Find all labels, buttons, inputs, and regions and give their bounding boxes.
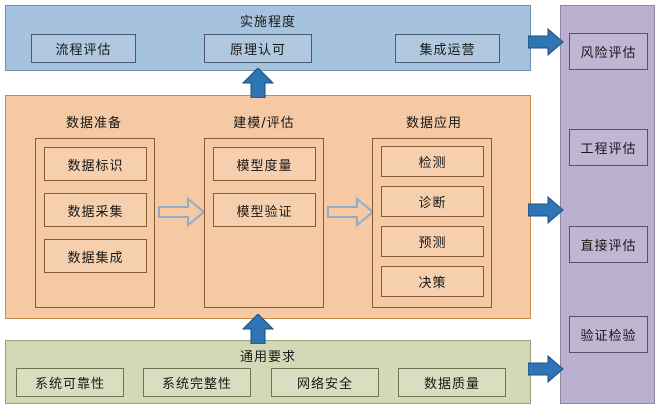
box-principle-approval[interactable]: 原理认可 <box>204 34 312 63</box>
box-data-identification[interactable]: 数据标识 <box>44 147 147 181</box>
group-title-modeling-evaluation: 建模/评估 <box>194 112 334 131</box>
panel-implementation-title: 实施程度 <box>6 11 530 30</box>
box-direct-assessment[interactable]: 直接评估 <box>569 226 648 263</box>
arrow-common-to-verification <box>528 355 564 383</box>
box-engineering-assessment[interactable]: 工程评估 <box>569 129 648 166</box>
box-risk-assessment[interactable]: 风险评估 <box>569 33 648 70</box>
box-decision[interactable]: 决策 <box>381 266 484 297</box>
box-data-integration[interactable]: 数据集成 <box>44 239 147 273</box>
arrow-pipeline-to-implementation <box>242 68 274 98</box>
panel-assessment: 风险评估 工程评估 直接评估 验证检验 <box>560 5 655 404</box>
box-data-collection[interactable]: 数据采集 <box>44 193 147 227</box>
flow-arrow-prep-to-model <box>158 196 206 228</box>
box-system-reliability[interactable]: 系统可靠性 <box>16 368 124 397</box>
box-prediction[interactable]: 预测 <box>381 226 484 257</box>
box-process-assessment[interactable]: 流程评估 <box>31 34 136 63</box>
group-modeling-evaluation: 模型度量 模型验证 <box>204 138 324 308</box>
box-model-validation[interactable]: 模型验证 <box>213 193 316 227</box>
box-network-security[interactable]: 网络安全 <box>271 368 379 397</box>
panel-common-requirements: 通用要求 系统可靠性 系统完整性 网络安全 数据质量 <box>5 340 531 404</box>
group-title-data-application: 数据应用 <box>364 112 504 131</box>
group-title-data-preparation: 数据准备 <box>24 112 164 131</box>
flow-arrow-model-to-application <box>327 196 375 228</box>
box-data-quality[interactable]: 数据质量 <box>398 368 506 397</box>
panel-implementation: 实施程度 流程评估 原理认可 集成运营 <box>5 5 531 71</box>
diagram-canvas: 实施程度 流程评估 原理认可 集成运营 数据准备 数据标识 数据采集 数据集成 … <box>0 0 659 409</box>
panel-common-requirements-title: 通用要求 <box>6 346 530 365</box>
box-integrated-operation[interactable]: 集成运营 <box>395 34 500 63</box>
box-verification-inspection[interactable]: 验证检验 <box>569 316 648 353</box>
panel-pipeline: 数据准备 数据标识 数据采集 数据集成 建模/评估 模型度量 模型验证 数据应用 <box>5 95 531 319</box>
group-data-application: 检测 诊断 预测 决策 <box>372 138 492 308</box>
box-system-integrity[interactable]: 系统完整性 <box>143 368 251 397</box>
box-diagnosis[interactable]: 诊断 <box>381 186 484 217</box>
arrow-pipeline-to-direct <box>528 196 564 224</box>
box-model-measurement[interactable]: 模型度量 <box>213 147 316 181</box>
arrow-common-to-pipeline <box>242 314 274 344</box>
group-data-preparation: 数据标识 数据采集 数据集成 <box>35 138 155 308</box>
arrow-implementation-to-risk <box>528 28 564 56</box>
box-detection[interactable]: 检测 <box>381 146 484 177</box>
